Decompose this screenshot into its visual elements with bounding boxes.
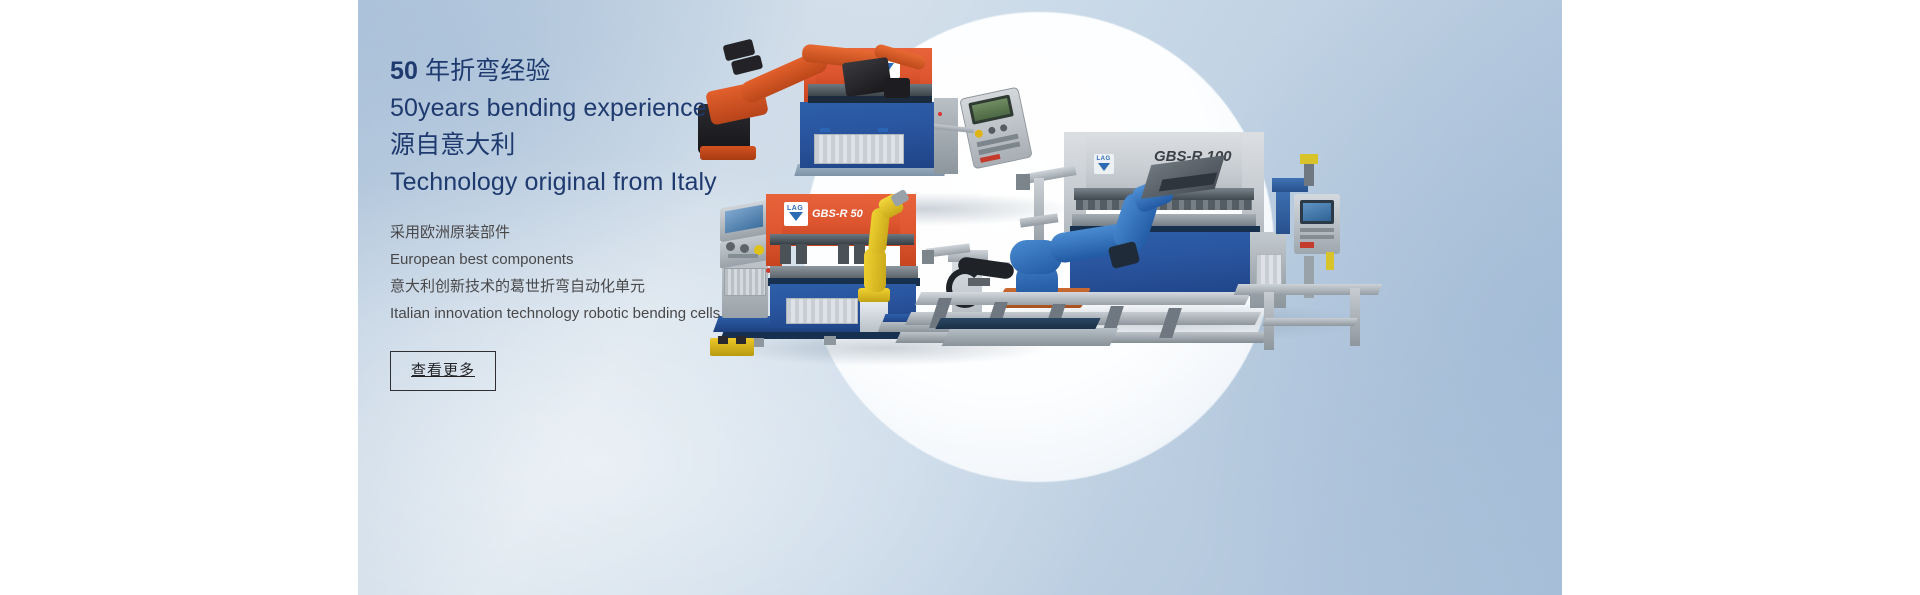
machine-vent: [814, 134, 904, 164]
headline-line-3: 源自意大利: [390, 127, 820, 164]
view-more-button[interactable]: 查看更多: [390, 351, 496, 391]
headline-line-1-rest: 年折弯经验: [418, 57, 551, 85]
subcopy-line-2: European best components: [390, 246, 820, 273]
hero-copy: 50 年折弯经验 50years bending experience 源自意大…: [390, 52, 820, 391]
headline-number: 50: [390, 57, 418, 85]
headline-block: 50 年折弯经验 50years bending experience 源自意大…: [390, 52, 820, 201]
machine-artwork: LAG: [698, 0, 1562, 595]
subcopy-line-4: Italian innovation technology robotic be…: [390, 300, 820, 327]
subcopy-line-3: 意大利创新技术的葛世折弯自动化单元: [390, 273, 820, 300]
subcopy-block: 采用欧洲原装部件 European best components 意大利创新技…: [390, 219, 820, 327]
headline-line-1: 50 年折弯经验: [390, 52, 820, 90]
lag-logo: LAG: [1094, 154, 1114, 174]
headline-line-2: 50years bending experience: [390, 90, 820, 127]
banner-stage: LAG: [0, 0, 1920, 595]
press-brake-robot-cell-right: GBS-R 100 LAG: [964, 132, 1384, 342]
subcopy-line-1: 采用欧洲原装部件: [390, 219, 820, 246]
hero-banner: LAG: [358, 0, 1562, 595]
headline-line-4: Technology original from Italy: [390, 164, 820, 201]
